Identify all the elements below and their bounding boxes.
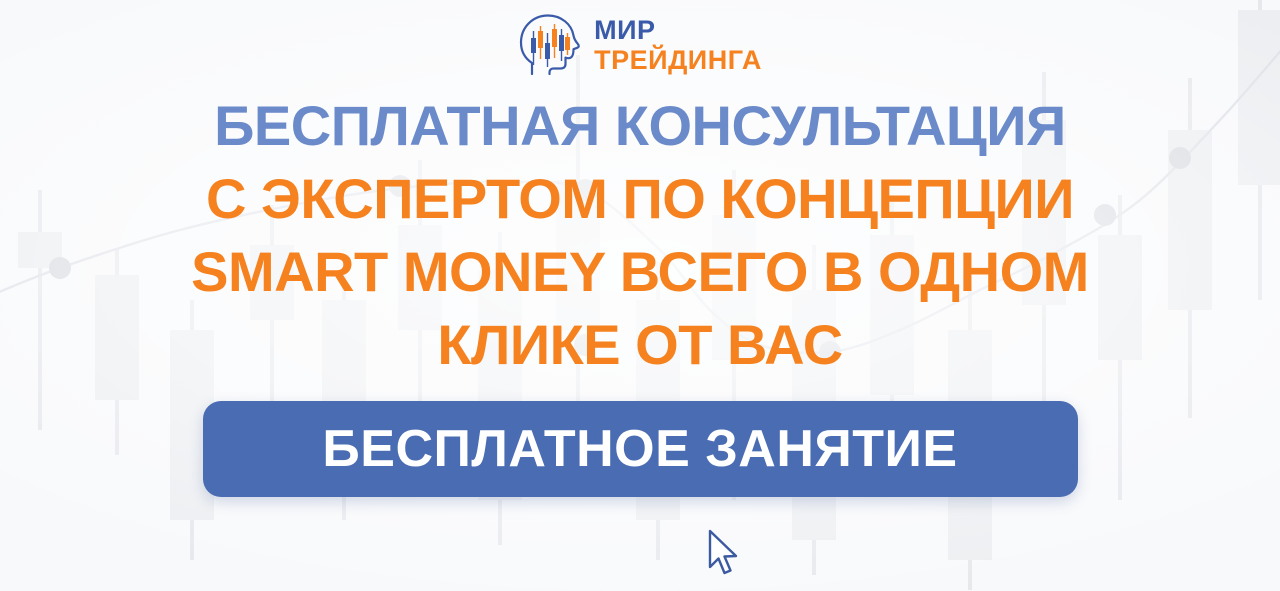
promo-banner: МИР ТРЕЙДИНГА БЕСПЛАТНАЯ КОНСУЛЬТАЦИЯ С … (0, 0, 1280, 591)
brand-name-line2: ТРЕЙДИНГА (594, 47, 762, 74)
brand-logo[interactable]: МИР ТРЕЙДИНГА (518, 8, 762, 82)
head-with-candlestick-chart-icon (518, 11, 584, 79)
brand-wordmark: МИР ТРЕЙДИНГА (594, 17, 762, 74)
headline-line-1: БЕСПЛАТНАЯ КОНСУЛЬТАЦИЯ (75, 98, 1205, 154)
headline-line-3: SMART MONEY ВСЕГО В ОДНОМ (75, 244, 1205, 300)
headline-line-2: С ЭКСПЕРТОМ ПО КОНЦЕПЦИИ (75, 171, 1205, 227)
free-lesson-button[interactable]: БЕСПЛАТНОЕ ЗАНЯТИЕ (203, 401, 1078, 497)
cta-container: БЕСПЛАТНОЕ ЗАНЯТИЕ (0, 401, 1280, 497)
free-lesson-button-label: БЕСПЛАТНОЕ ЗАНЯТИЕ (322, 419, 957, 479)
headline: БЕСПЛАТНАЯ КОНСУЛЬТАЦИЯ С ЭКСПЕРТОМ ПО К… (75, 98, 1205, 373)
brand-name-line1: МИР (594, 17, 762, 44)
headline-line-4: КЛИКЕ ОТ ВАС (75, 317, 1205, 373)
